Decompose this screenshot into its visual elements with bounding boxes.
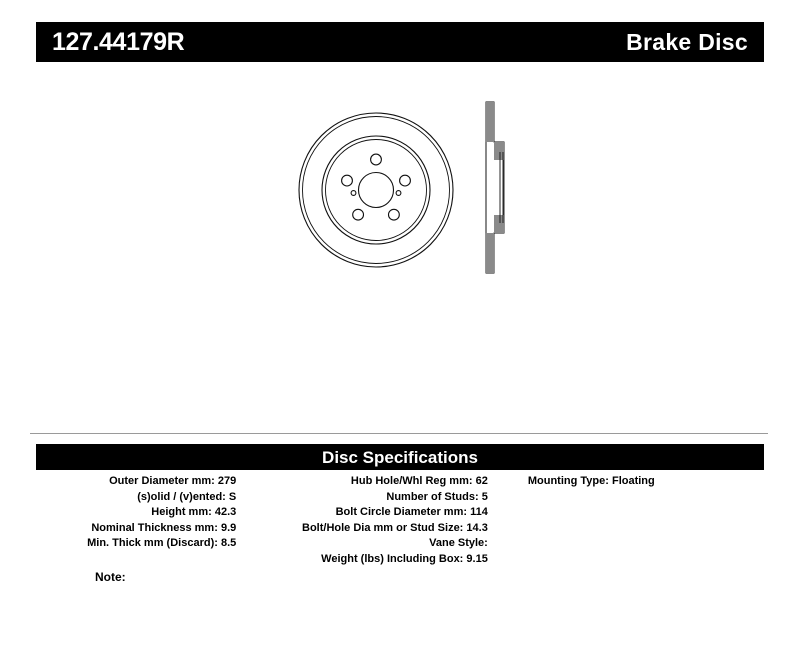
- disc-outer-edge-inner-circle: [303, 117, 450, 264]
- spec-column-middle: Hub Hole/Whl Reg mm: 62 Number of Studs:…: [236, 474, 488, 567]
- stud-hole: [400, 175, 411, 186]
- hub-center-bore: [359, 173, 394, 208]
- spec-label: Outer Diameter mm:: [109, 475, 215, 487]
- spec-value: 62: [476, 475, 488, 487]
- spec-value: S: [229, 491, 236, 503]
- spec-value: Floating: [612, 475, 655, 487]
- note-label: Note:: [95, 570, 126, 584]
- spec-row: Min. Thick mm (Discard): 8.5: [36, 536, 236, 552]
- spec-value: 8.5: [221, 537, 236, 549]
- spec-row: Mounting Type: Floating: [528, 474, 764, 490]
- spec-title-bar: Disc Specifications: [36, 444, 764, 470]
- stud-hole: [342, 175, 353, 186]
- spec-row: Outer Diameter mm: 279: [36, 474, 236, 490]
- spec-row: Bolt/Hole Dia mm or Stud Size: 14.3: [242, 521, 488, 537]
- spec-row: Nominal Thickness mm: 9.9: [36, 521, 236, 537]
- spec-row: Weight (lbs) Including Box: 9.15: [242, 552, 488, 568]
- spec-columns: Outer Diameter mm: 279 (s)olid / (v)ente…: [36, 474, 764, 567]
- spec-value: 5: [482, 491, 488, 503]
- spec-value: 279: [218, 475, 236, 487]
- spec-label: Vane Style:: [429, 537, 488, 549]
- header-bar: 127.44179R Brake Disc: [36, 22, 764, 62]
- spec-row: (s)olid / (v)ented: S: [36, 490, 236, 506]
- part-number: 127.44179R: [52, 30, 184, 55]
- brake-disc-side-section-view: [464, 90, 544, 285]
- hat-flange-bottom-hatch: [486, 233, 494, 273]
- spec-value: 9.9: [221, 522, 236, 534]
- spec-label: Bolt Circle Diameter mm:: [336, 506, 467, 518]
- stud-hole: [389, 209, 400, 220]
- locating-pin-hole: [396, 191, 401, 196]
- hat-flange-top-hatch: [486, 102, 494, 142]
- spec-value: 114: [470, 506, 488, 518]
- spec-label: Min. Thick mm (Discard):: [87, 537, 218, 549]
- stud-hole: [371, 154, 382, 165]
- product-title: Brake Disc: [626, 31, 748, 54]
- spec-label: Bolt/Hole Dia mm or Stud Size:: [302, 522, 463, 534]
- spec-label: (s)olid / (v)ented:: [137, 491, 226, 503]
- spec-row: Vane Style:: [242, 536, 488, 552]
- stud-hole: [353, 209, 364, 220]
- disc-drawing-area: [36, 80, 764, 410]
- spec-label: Height mm:: [151, 506, 212, 518]
- disc-hat-outer-circle: [322, 136, 430, 244]
- spec-label: Nominal Thickness mm:: [91, 522, 218, 534]
- brake-disc-front-view: [286, 100, 466, 280]
- spec-column-right: Mounting Type: Floating: [488, 474, 764, 490]
- spec-value: 14.3: [466, 522, 487, 534]
- spec-column-left: Outer Diameter mm: 279 (s)olid / (v)ente…: [36, 474, 236, 552]
- spec-section-title: Disc Specifications: [322, 449, 478, 466]
- locating-pin-hole: [351, 191, 356, 196]
- spec-label: Hub Hole/Whl Reg mm:: [351, 475, 473, 487]
- spec-label: Number of Studs:: [386, 491, 478, 503]
- spec-value: 9.15: [466, 553, 487, 565]
- spec-row: Height mm: 42.3: [36, 505, 236, 521]
- rotor-ring-top-hatch: [494, 142, 504, 160]
- spec-row: Number of Studs: 5: [242, 490, 488, 506]
- rotor-ring-bottom-hatch: [494, 215, 504, 233]
- spec-value: 42.3: [215, 506, 236, 518]
- spec-label: Mounting Type:: [528, 475, 609, 487]
- spec-row: Hub Hole/Whl Reg mm: 62: [242, 474, 488, 490]
- note-block: Note:: [95, 570, 249, 584]
- spec-label: Weight (lbs) Including Box:: [321, 553, 463, 565]
- spec-divider-rule: [30, 433, 768, 434]
- spec-row: Bolt Circle Diameter mm: 114: [242, 505, 488, 521]
